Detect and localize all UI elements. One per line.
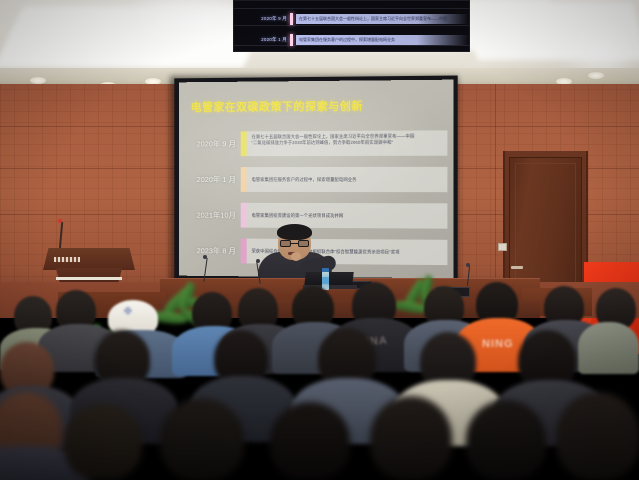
led-row-date: 2020年 9 月: [234, 16, 290, 22]
timeline-row-line: 电管家集团投资建设的第一个光伏项目成功并网: [252, 206, 444, 226]
timeline-row: 2020年 9 月 在第七十五届联合国大会一般性辩论上，国家主席习近平向全世界郑…: [185, 130, 447, 156]
ceiling-panel-light-2: [592, 46, 614, 54]
timeline-row-body: 在第七十五届联合国大会一般性辩论上，国家主席习近平向全世界郑重宣布——中国 “二…: [247, 130, 448, 156]
water-bottle-label: [322, 277, 329, 284]
downlight-1: [30, 77, 46, 84]
led-row-accent: [290, 34, 293, 46]
led-row-text: 电管家集团在服务客户的过程中，探索增量配电网业务: [296, 35, 469, 45]
hat-logo-icon: ✠: [124, 306, 132, 317]
led-ticker-row: 2020年 1 月 电管家集团在服务客户的过程中，探索增量配电网业务: [234, 31, 469, 48]
presenter-hand: [291, 252, 301, 261]
led-row-date: 2020年 1 月: [234, 37, 290, 43]
ceiling-panel-light-1: [160, 12, 212, 20]
desk-microphone-head-3: [466, 263, 470, 267]
conference-hall-photo: 2020年 9 月 在第七十五届联合国大会一般性辩论上，国家主席习近平向全世界郑…: [0, 0, 639, 480]
led-row-text: 在第七十五届联合国大会一般性辩论上，国家主席习近平向全世界郑重宣布——中国: [296, 14, 469, 24]
led-ticker-row: 2020年 9 月 在第七十五届联合国大会一般性辩论上，国家主席习近平向全世界郑…: [234, 10, 469, 27]
podium-trim: [56, 277, 122, 280]
timeline-row: 2021年10月 电管家集团投资建设的第一个光伏项目成功并网: [185, 203, 447, 229]
timeline-row-date: 2020年 9 月: [185, 131, 241, 156]
timeline-row-line: 电管家集团在服务客户的过程中，探索增量配电网业务: [252, 170, 444, 189]
glasses-icon: [280, 240, 309, 247]
timeline-row: 2020年 1 月 电管家集团在服务客户的过程中，探索增量配电网业务: [185, 167, 447, 192]
downlight-5: [588, 72, 604, 79]
presenter-hair: [277, 224, 312, 240]
light-switch[interactable]: [498, 243, 507, 251]
door-handle[interactable]: [511, 266, 523, 269]
timeline-row-date: 2020年 1 月: [185, 167, 241, 192]
led-row-accent: [290, 13, 293, 25]
projection-screen: 电管家在双碳政策下的探索与创新 2020年 9 月 在第七十五届联合国大会一般性…: [179, 80, 453, 279]
timeline-row-body: 电管家集团投资建设的第一个光伏项目成功并网: [247, 203, 448, 229]
podium-plaque: [54, 257, 80, 262]
wall-seam-vertical: [495, 84, 496, 299]
podium-microphone-head: [58, 219, 62, 223]
timeline-row-date: 2021年10月: [185, 203, 241, 228]
timeline-row-line: “二氧化碳排放力争于2030年前达到峰值，努力争取2060年前实现碳中和”: [252, 140, 444, 147]
timeline-row-body: 电管家集团在服务客户的过程中，探索增量配电网业务: [247, 167, 448, 192]
door-panel: [515, 163, 576, 293]
desk-microphone-head-2: [256, 259, 260, 263]
jacket-logo-text: NING: [482, 338, 514, 350]
timeline-row-date: 2023年 8 月: [185, 238, 241, 263]
water-bottle-cap: [322, 268, 329, 272]
slide-title: 电管家在双碳政策下的探索与创新: [191, 98, 363, 115]
desk-microphone-head-1: [203, 255, 207, 259]
overhead-led-ticker: 2020年 9 月 在第七十五届联合国大会一般性辩论上，国家主席习近平向全世界郑…: [233, 0, 470, 52]
laptop-on-table[interactable]: [304, 272, 353, 286]
